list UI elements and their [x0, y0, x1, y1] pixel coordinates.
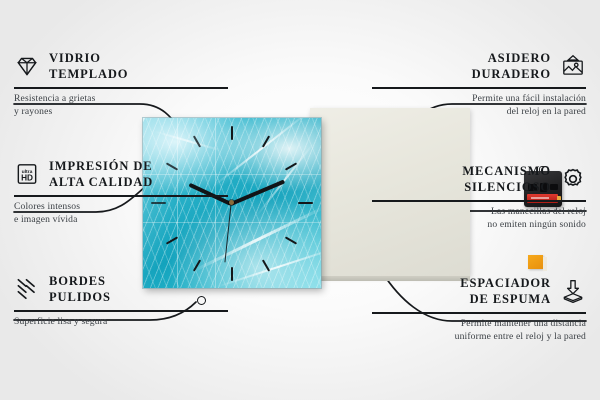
feature-impresion-alta-calidad[interactable]: ultra HD IMPRESIÓN DE ALTA CALIDAD Color… — [14, 158, 228, 226]
title-line-2: DURADERO — [472, 66, 551, 82]
feature-description: Colores intensos e imagen vívida — [14, 201, 228, 227]
hour-marker-6 — [231, 267, 233, 281]
svg-text:HD: HD — [21, 174, 33, 183]
divider — [372, 312, 586, 314]
feature-title: IMPRESIÓN DE ALTA CALIDAD — [49, 158, 153, 190]
hour-marker-5 — [262, 259, 270, 271]
desc-line-2: no emiten ningún sonido — [372, 219, 586, 232]
feature-title: ESPACIADOR DE ESPUMA — [460, 275, 551, 307]
feather-streak — [255, 141, 315, 217]
clock-center-pin — [229, 200, 234, 205]
feature-asidero-duradero[interactable]: ASIDERO DURADERO Permite una fácil insta… — [372, 50, 586, 118]
feature-header: ultra HD IMPRESIÓN DE ALTA CALIDAD — [14, 158, 228, 190]
hour-marker-11 — [193, 135, 201, 147]
desc-line-2: e imagen vívida — [14, 214, 228, 227]
foam-spacer-pad — [528, 255, 543, 269]
divider — [14, 87, 228, 89]
divider — [14, 310, 228, 312]
feather-streak — [154, 130, 222, 151]
desc-line-2: del reloj en la pared — [372, 106, 586, 119]
foam-spacer-arrow-icon — [560, 278, 586, 304]
desc-line-2: y rayones — [14, 106, 228, 119]
feature-header: ASIDERO DURADERO — [372, 50, 586, 82]
feature-header: VIDRIO TEMPLADO — [14, 50, 228, 82]
hour-marker-1 — [262, 135, 270, 147]
wall-hanger-frame-icon — [560, 53, 586, 79]
hour-marker-4 — [285, 236, 297, 244]
desc-line-1: Resistencia a grietas — [14, 93, 228, 106]
desc-line-1: Superficie lisa y segura — [14, 316, 228, 329]
ultra-hd-icon: ultra HD — [14, 161, 40, 187]
minute-hand — [230, 179, 285, 205]
divider — [372, 200, 586, 202]
feature-description: Permite una fácil instalación del reloj … — [372, 93, 586, 119]
divider — [14, 195, 228, 197]
infographic-canvas: VIDRIO TEMPLADO Resistencia a grietas y … — [0, 0, 600, 400]
desc-line-1: Colores intensos — [14, 201, 228, 214]
title-line-2: ALTA CALIDAD — [49, 174, 153, 190]
hour-marker-12 — [231, 126, 233, 140]
feature-description: Las manecillas del reloj no emiten ningú… — [372, 206, 586, 232]
title-line-1: ASIDERO — [472, 50, 551, 66]
title-line-1: VIDRIO — [49, 50, 128, 66]
hour-marker-2 — [285, 162, 297, 170]
feature-mecanismo-silencioso[interactable]: MECANISMO SILENCIOSO Las manecillas del … — [372, 163, 586, 231]
feature-title: VIDRIO TEMPLADO — [49, 50, 128, 82]
title-line-2: SILENCIOSO — [462, 179, 551, 195]
title-line-1: MECANISMO — [462, 163, 551, 179]
divider — [372, 87, 586, 89]
desc-line-1: Permite una fácil instalación — [372, 93, 586, 106]
feature-header: ESPACIADOR DE ESPUMA — [372, 275, 586, 307]
diamond-icon — [14, 53, 40, 79]
feature-bordes-pulidos[interactable]: BORDES PULIDOS Superficie lisa y segura — [14, 273, 228, 329]
desc-line-1: Permite mantener una distancia — [372, 318, 586, 331]
title-line-2: PULIDOS — [49, 289, 111, 305]
feature-vidrio-templado[interactable]: VIDRIO TEMPLADO Resistencia a grietas y … — [14, 50, 228, 118]
feature-header: BORDES PULIDOS — [14, 273, 228, 305]
title-line-1: BORDES — [49, 273, 111, 289]
desc-line-1: Las manecillas del reloj — [372, 206, 586, 219]
feature-title: BORDES PULIDOS — [49, 273, 111, 305]
feature-espaciador-de-espuma[interactable]: ESPACIADOR DE ESPUMA Permite mantener un… — [372, 275, 586, 343]
gear-icon — [560, 166, 586, 192]
hour-marker-3 — [298, 202, 313, 204]
hour-marker-7 — [193, 259, 201, 271]
polished-edges-icon — [14, 276, 40, 302]
title-line-1: IMPRESIÓN DE — [49, 158, 153, 174]
feature-title: ASIDERO DURADERO — [472, 50, 551, 82]
title-line-2: DE ESPUMA — [460, 291, 551, 307]
feature-description: Resistencia a grietas y rayones — [14, 93, 228, 119]
title-line-1: ESPACIADOR — [460, 275, 551, 291]
desc-line-2: uniforme entre el reloj y la pared — [372, 331, 586, 344]
feature-header: MECANISMO SILENCIOSO — [372, 163, 586, 195]
feature-description: Superficie lisa y segura — [14, 316, 228, 329]
feature-title: MECANISMO SILENCIOSO — [462, 163, 551, 195]
feature-description: Permite mantener una distancia uniforme … — [372, 318, 586, 344]
title-line-2: TEMPLADO — [49, 66, 128, 82]
hour-marker-8 — [166, 236, 178, 244]
